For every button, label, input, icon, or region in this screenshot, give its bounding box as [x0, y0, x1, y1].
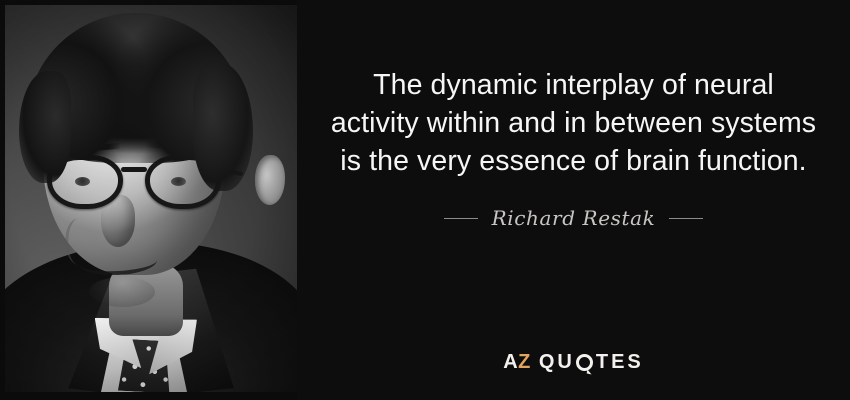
azquotes-logo[interactable]: AZ QU TES [297, 352, 850, 372]
quote-panel: The dynamic interplay of neural activity… [297, 0, 850, 400]
quote-text: The dynamic interplay of neural activity… [328, 66, 820, 180]
attribution-dash-right [669, 218, 703, 219]
quote-card: The dynamic interplay of neural activity… [0, 0, 850, 400]
logo-quotes-word: QU TES [539, 352, 644, 372]
logo-quotes-prefix: QU [539, 352, 575, 372]
author-name[interactable]: Richard Restak [492, 206, 656, 230]
logo-letter-z: Z [518, 351, 531, 373]
photo-vignette [5, 5, 297, 392]
logo-az-mark: AZ [503, 352, 531, 372]
speech-bubble-o-icon [576, 354, 593, 371]
logo-quotes-suffix: TES [596, 352, 644, 372]
attribution: Richard Restak [444, 206, 704, 230]
author-portrait-photo [5, 5, 297, 392]
attribution-dash-left [444, 218, 478, 219]
portrait-panel [0, 0, 297, 400]
logo-letter-a: A [503, 351, 518, 373]
